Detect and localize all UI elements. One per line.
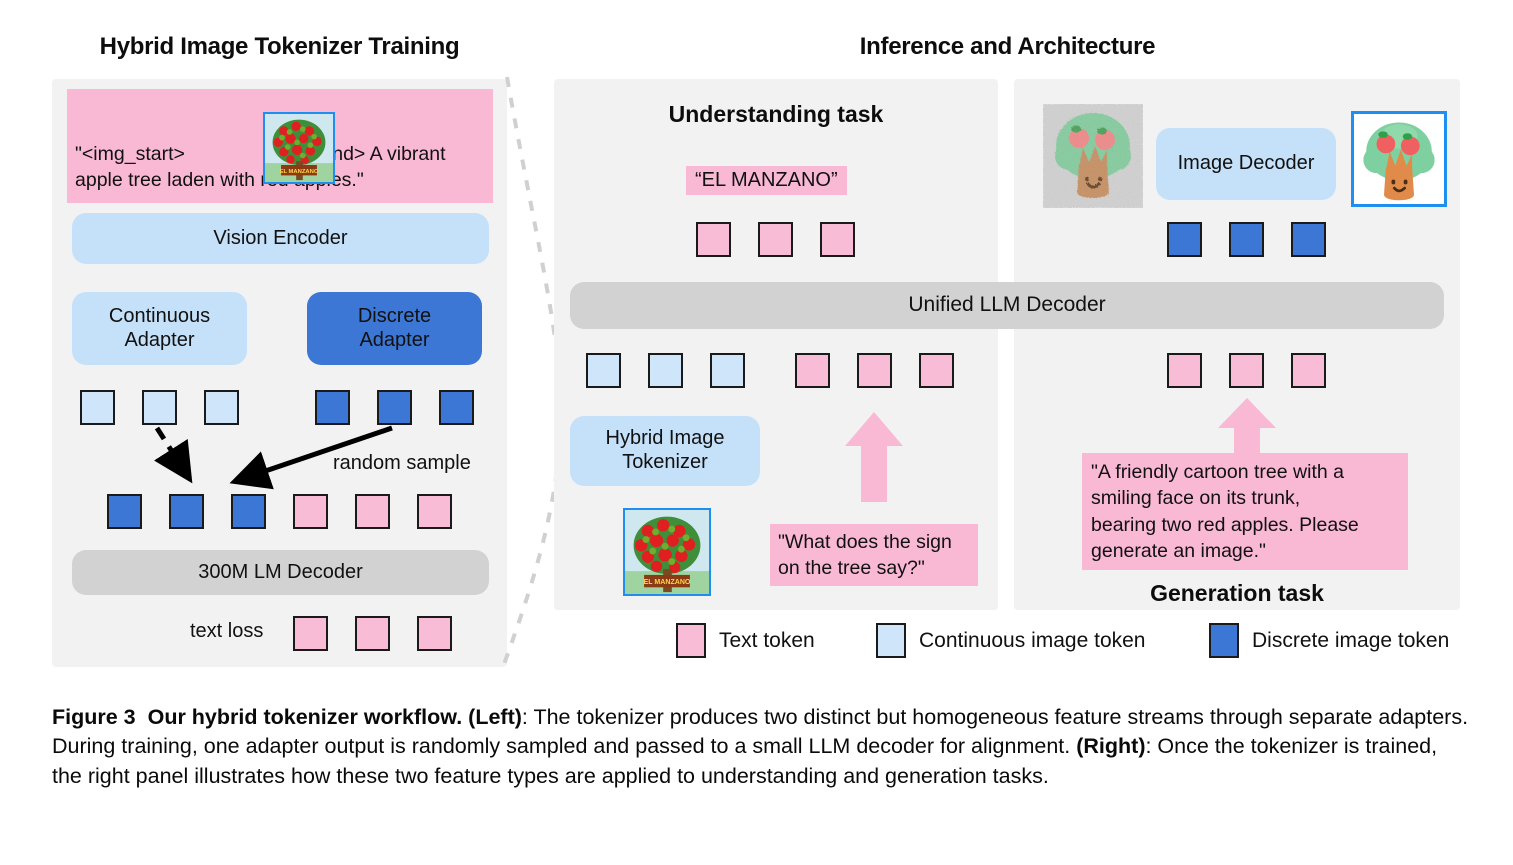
decoder-input-token — [1291, 222, 1326, 257]
text-loss-label: text loss — [190, 620, 263, 643]
legend-item-discrete-token: Discrete image token — [1209, 623, 1449, 658]
unified-llm-decoder-box[interactable]: Unified LLM Decoder — [570, 282, 1444, 329]
hybrid-image-tokenizer-box[interactable]: Hybrid Image Tokenizer — [570, 416, 760, 486]
random-sample-label: random sample — [333, 452, 471, 475]
discrete-adapter-box[interactable]: Discrete Adapter — [307, 292, 482, 365]
loss-token — [417, 616, 452, 651]
generation-up-arrow — [1218, 398, 1276, 456]
mixed-token — [231, 494, 266, 529]
answer-token — [696, 222, 731, 257]
understanding-task-title: Understanding task — [554, 101, 998, 128]
left-panel-title: Hybrid Image Tokenizer Training — [52, 33, 507, 61]
apple-tree-thumbnail: EL MANZANO — [263, 112, 335, 184]
dashed-sample-arrow — [157, 428, 187, 475]
understanding-up-arrow — [845, 412, 903, 502]
understanding-input-image: EL MANZANO — [623, 508, 711, 596]
understanding-answer: “EL MANZANO” — [686, 166, 847, 195]
figure-caption: Figure 3 Our hybrid tokenizer workflow. … — [52, 703, 1472, 791]
legend-swatch-text-token — [676, 623, 706, 658]
understanding-input-token — [919, 353, 954, 388]
understanding-input-token — [710, 353, 745, 388]
understanding-image-sign-text: EL MANZANO — [644, 579, 691, 586]
generation-token — [1229, 353, 1264, 388]
understanding-input-token — [648, 353, 683, 388]
caption-title: Our hybrid tokenizer workflow — [148, 705, 457, 729]
legend-swatch-discrete-token — [1209, 623, 1239, 658]
lm-decoder-box[interactable]: 300M LM Decoder — [72, 550, 489, 595]
image-decoder-box[interactable]: Image Decoder — [1156, 128, 1336, 200]
generated-image — [1351, 111, 1447, 207]
generation-token — [1291, 353, 1326, 388]
legend-item-continuous-token: Continuous image token — [876, 623, 1145, 658]
caption-left-tag: (Left) — [468, 705, 522, 729]
generation-prompt: "A friendly cartoon tree with a smiling … — [1082, 453, 1408, 570]
legend-swatch-continuous-token — [876, 623, 906, 658]
mixed-token — [417, 494, 452, 529]
caption-figure-number: Figure 3 — [52, 705, 136, 729]
answer-token — [820, 222, 855, 257]
mixed-token — [293, 494, 328, 529]
decoder-input-token — [1229, 222, 1264, 257]
caption-right-tag: (Right) — [1076, 734, 1145, 758]
mixed-token — [169, 494, 204, 529]
decoder-input-token — [1167, 222, 1202, 257]
mixed-token — [107, 494, 142, 529]
understanding-input-token — [795, 353, 830, 388]
legend-label-discrete-token: Discrete image token — [1252, 629, 1449, 653]
vision-encoder-box[interactable]: Vision Encoder — [72, 213, 489, 264]
answer-token — [758, 222, 793, 257]
thumbnail-sign-text: EL MANZANO — [280, 169, 319, 175]
generation-token — [1167, 353, 1202, 388]
prompt-text-start: "<img_start> — [75, 143, 185, 165]
legend-label-text-token: Text token — [719, 629, 815, 653]
mixed-token — [355, 494, 390, 529]
loss-token — [293, 616, 328, 651]
continuous-adapter-box[interactable]: Continuous Adapter — [72, 292, 247, 365]
understanding-input-token — [586, 353, 621, 388]
training-prompt-block: "<img_start> <img_end> A vibrant apple t… — [67, 89, 493, 203]
understanding-question: "What does the sign on the tree say?" — [770, 524, 978, 586]
generation-task-title: Generation task — [1014, 580, 1460, 607]
loss-token — [355, 616, 390, 651]
right-panel-title: Inference and Architecture — [780, 33, 1235, 61]
legend-item-text-token: Text token — [676, 623, 815, 658]
legend-label-continuous-token: Continuous image token — [919, 629, 1145, 653]
understanding-input-token — [857, 353, 892, 388]
noisy-image — [1043, 104, 1143, 208]
